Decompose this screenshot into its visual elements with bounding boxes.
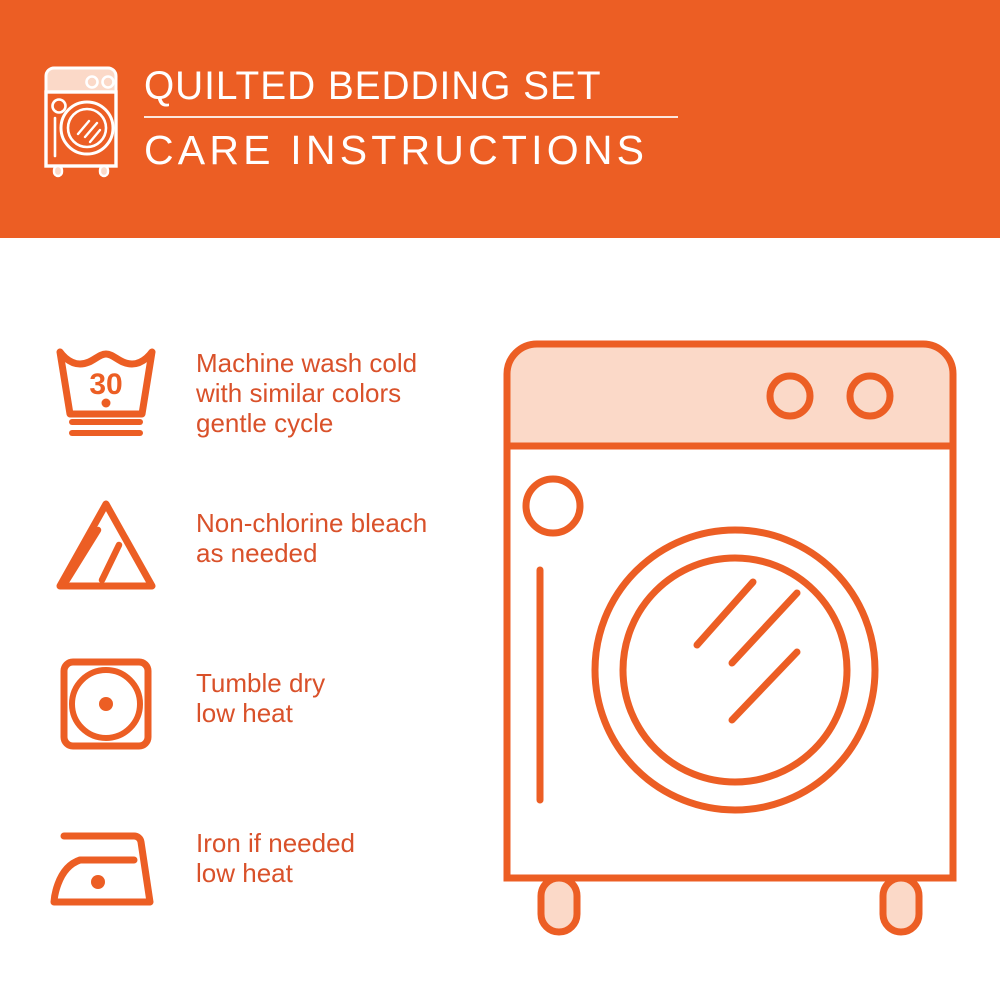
tumble-dry-low-icon (46, 650, 166, 762)
care-instruction-item: Iron if needed low heat (46, 810, 486, 970)
header-titles: QUILTED BEDDING SET CARE INSTRUCTIONS (144, 62, 678, 173)
leg-right (883, 878, 919, 932)
care-text-line: Machine wash cold (196, 348, 417, 378)
svg-text:30: 30 (89, 368, 122, 401)
care-instruction-text: Iron if needed low heat (196, 810, 355, 888)
care-text-line: gentle cycle (196, 408, 417, 438)
title-divider (144, 116, 678, 118)
care-instruction-list: 30 Machine wash cold with similar colors… (46, 330, 486, 970)
iron-low-heat-icon (46, 810, 166, 922)
control-panel (507, 344, 953, 446)
care-text-line: low heat (196, 858, 355, 888)
door-outer-ring (595, 530, 875, 810)
care-text-line: Non-chlorine bleach (196, 508, 427, 538)
care-instruction-item: Non-chlorine bleach as needed (46, 490, 486, 650)
care-text-line: with similar colors (196, 378, 417, 408)
care-instruction-item: 30 Machine wash cold with similar colors… (46, 330, 486, 490)
care-text-line: Iron if needed (196, 828, 355, 858)
care-text-line: as needed (196, 538, 427, 568)
wash-tub-30-gentle-icon: 30 (46, 330, 166, 442)
washing-machine-icon (40, 66, 122, 178)
care-instruction-text: Non-chlorine bleach as needed (196, 490, 427, 568)
indicator-light (526, 479, 580, 533)
care-instruction-text: Tumble dry low heat (196, 650, 325, 728)
care-instruction-text: Machine wash cold with similar colors ge… (196, 330, 417, 438)
bleach-triangle-icon (46, 490, 166, 602)
care-text-line: Tumble dry (196, 668, 325, 698)
leg-left (541, 878, 577, 932)
page-title: CARE INSTRUCTIONS (144, 127, 678, 173)
washing-machine-illustration (485, 330, 975, 950)
care-instruction-item: Tumble dry low heat (46, 650, 486, 810)
product-title: QUILTED BEDDING SET (144, 64, 662, 108)
care-text-line: low heat (196, 698, 325, 728)
header-banner: QUILTED BEDDING SET CARE INSTRUCTIONS (0, 0, 1000, 238)
header-content: QUILTED BEDDING SET CARE INSTRUCTIONS (40, 62, 678, 178)
door-shine-lines (697, 582, 797, 720)
door-inner-ring (623, 558, 847, 782)
